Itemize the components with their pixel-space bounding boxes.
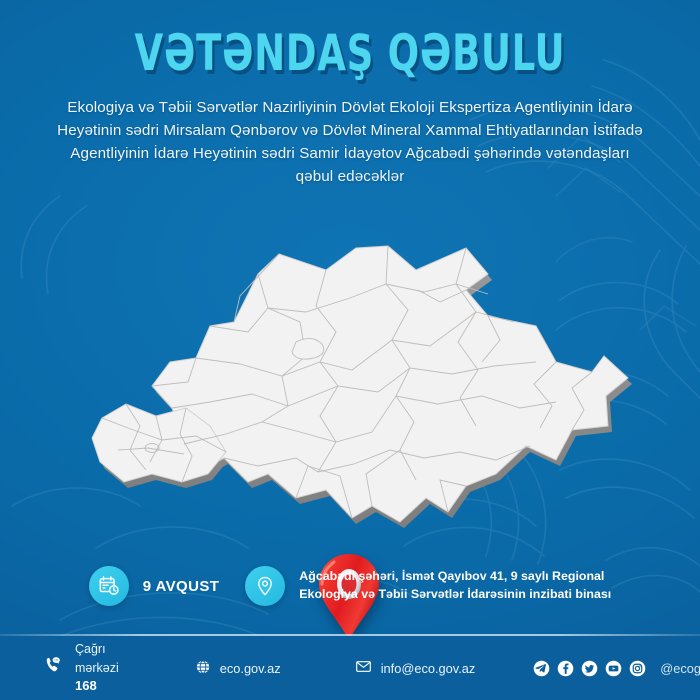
social-handle: @ecogovaz (660, 661, 700, 676)
footer-email[interactable]: info@eco.gov.az (355, 658, 476, 678)
event-address: Ağcabədi şəhəri, İsmət Qayıbov 41, 9 say… (299, 568, 611, 604)
telegram-icon[interactable] (533, 660, 550, 677)
event-address-line2: Ekologiya və Təbii Sərvətlər İdarəsinin … (299, 586, 611, 604)
event-date: 9 AVQUST (143, 578, 220, 595)
email-address: info@eco.gov.az (381, 661, 476, 676)
event-info-strip: 9 AVQUST Ağcabədi şəhəri, İsmət Qayıbov … (0, 556, 700, 616)
calendar-clock-icon (89, 566, 129, 606)
footer-call-center[interactable]: Çağrı mərkəzi 168 (44, 640, 119, 697)
facebook-icon[interactable] (557, 660, 574, 677)
call-center-number: 168 (75, 678, 97, 693)
footer-bar: Çağrı mərkəzi 168 eco.gov.az (0, 636, 700, 700)
page-subtitle: Ekologiya və Təbii Sərvətlər Nazirliyini… (55, 96, 645, 188)
footer-website[interactable]: eco.gov.az (195, 659, 281, 678)
instagram-icon[interactable] (629, 660, 646, 677)
page-title: VƏTƏNDAŞ QƏBULU (63, 28, 637, 78)
globe-icon (195, 659, 211, 678)
event-address-line1: Ağcabədi şəhəri, İsmət Qayıbov 41, 9 say… (299, 568, 611, 586)
azerbaijan-map (0, 236, 700, 536)
website-url: eco.gov.az (220, 661, 281, 676)
poster-canvas: VƏTƏNDAŞ QƏBULU Ekologiya və Təbii Sərvə… (0, 0, 700, 700)
footer-social-links: @ecogovaz (533, 660, 700, 677)
call-center-label: Çağrı mərkəzi (75, 642, 119, 675)
header: VƏTƏNDAŞ QƏBULU Ekologiya və Təbii Sərvə… (0, 28, 700, 188)
envelope-icon (355, 658, 372, 678)
map-pin-icon (245, 566, 285, 606)
twitter-icon[interactable] (581, 660, 598, 677)
phone-chat-icon (44, 655, 66, 682)
youtube-icon[interactable] (605, 660, 622, 677)
